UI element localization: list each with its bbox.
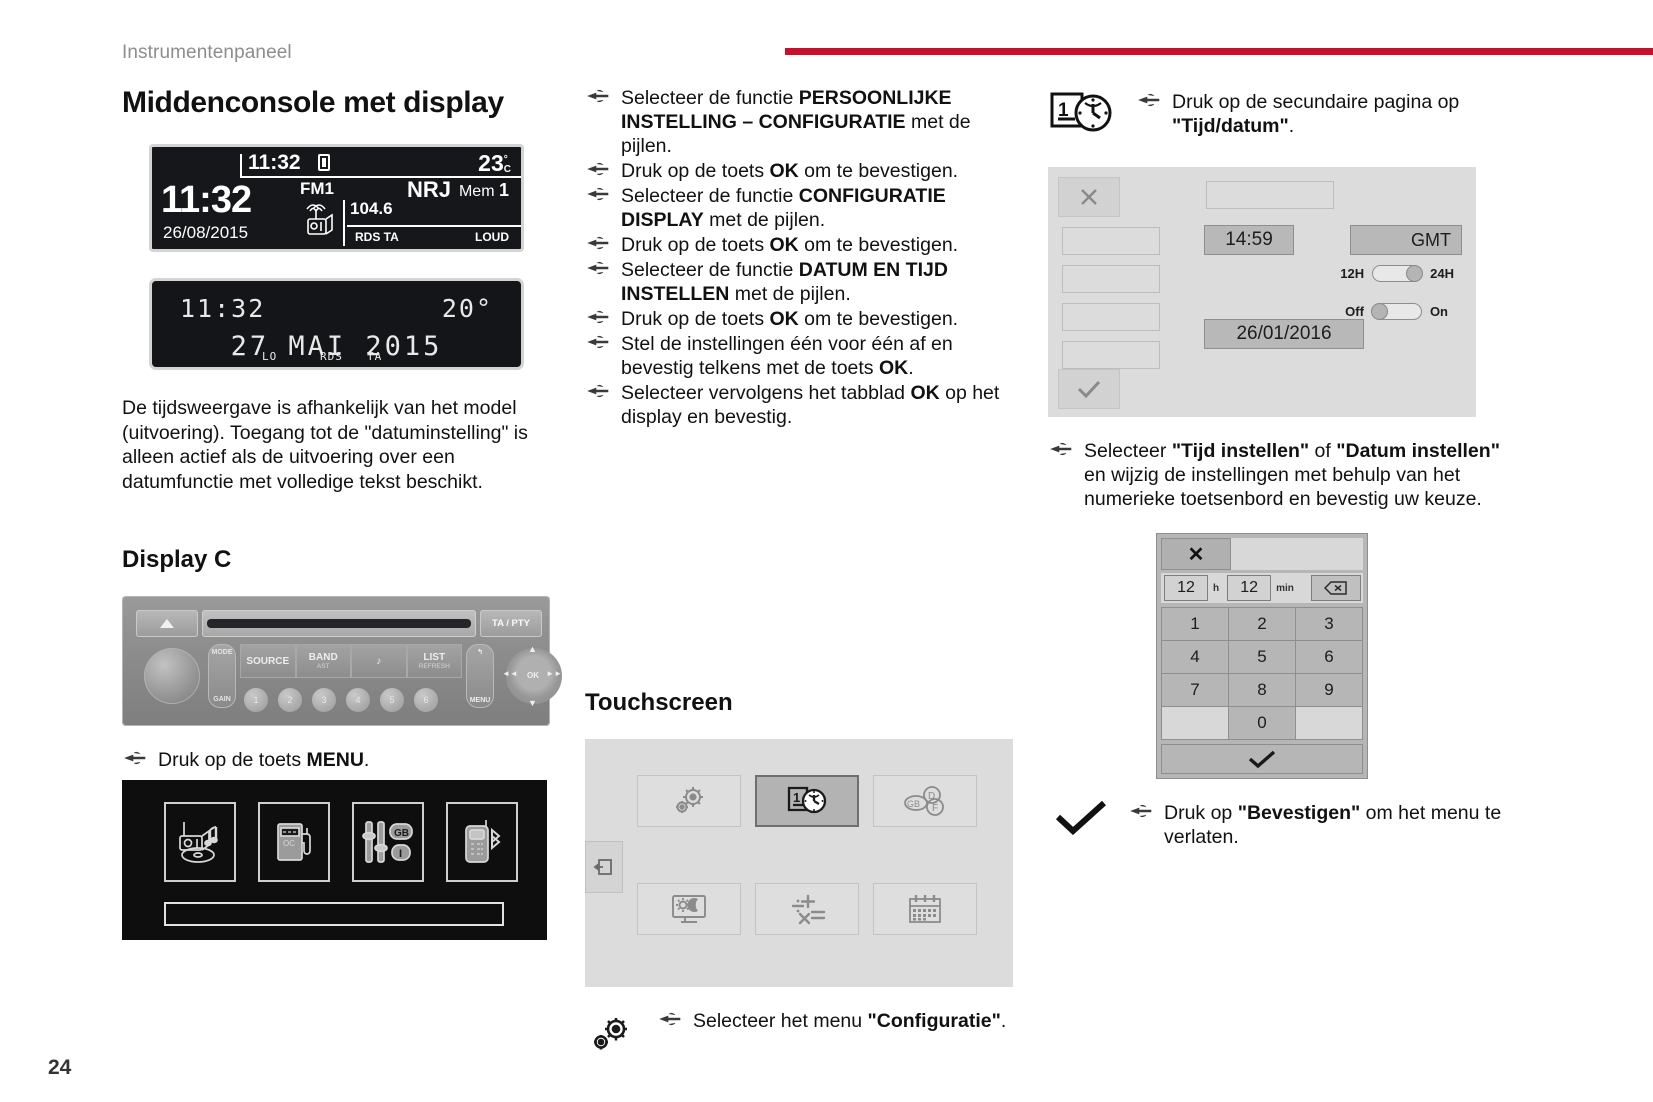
configuration-steps-list: Selecteer de functie PERSOONLIJKE INSTEL… [585, 86, 1015, 429]
display-a-status-clock: 11:32 [248, 151, 301, 175]
band-button[interactable]: BANDAST [296, 644, 352, 678]
svg-text:GB: GB [907, 799, 920, 809]
minute-unit-label: min [1271, 583, 1299, 594]
display-a-bottom-rule [347, 225, 521, 227]
display-b-clock: 11:32 [180, 294, 265, 323]
menu-label: MENU [470, 697, 491, 704]
hour-format-toggle[interactable] [1372, 265, 1422, 282]
chevron-up-icon[interactable]: ▲ [528, 644, 537, 654]
gain-label: GAIN [213, 696, 231, 703]
list-item: Selecteer het menu "Configuratie". [657, 1009, 1015, 1033]
toggle-off-label: Off [1345, 304, 1364, 319]
pointing-hand-icon [587, 310, 613, 328]
eject-icon[interactable] [136, 610, 198, 637]
back-arrow-icon[interactable] [585, 841, 623, 893]
mode-gain-button[interactable]: MODE GAIN [208, 644, 236, 708]
radio-cd-icon[interactable] [164, 802, 236, 882]
display-b-screen: 11:32 20° 27 MAI 2015 LO RDS TA [149, 278, 524, 370]
date-time-icon: 1 [1048, 86, 1126, 141]
keypad-top-spacer [1231, 538, 1363, 570]
keypad-key[interactable]: 0 [1229, 707, 1295, 739]
keypad-key[interactable]: 5 [1229, 641, 1295, 673]
pointing-hand-icon [587, 236, 613, 254]
chevron-down-icon[interactable]: ▼ [528, 698, 537, 708]
radio-menu-strip: OC GB I [122, 780, 547, 940]
middle-column: Selecteer de functie PERSOONLIJKE INSTEL… [585, 86, 1015, 1062]
onoff-toggle[interactable] [1372, 303, 1422, 320]
rewind-icon[interactable]: ◄◄ [502, 669, 518, 678]
list-item: Druk op de toets OK om te bevestigen. [585, 307, 1015, 331]
running-head: Instrumentenpaneel [122, 42, 292, 64]
display-b-lo: LO [262, 350, 277, 363]
display-a-screen: 11:32 23°C 11:32 26/08/2015 FM1 104.6 NR… [149, 144, 524, 252]
date-time-icon[interactable]: 1 [755, 775, 859, 827]
settings-gears-icon [585, 1009, 637, 1062]
backspace-icon[interactable] [1311, 575, 1361, 601]
radio-slot-row: TA / PTY [136, 608, 542, 638]
preset-button[interactable]: 6 [414, 688, 438, 712]
toggle-knob [1371, 303, 1388, 320]
pointing-hand-icon [1130, 804, 1156, 822]
display-note: De tijdsweergave is afhankelijk van het … [122, 396, 562, 494]
keypad-top-row: ✕ [1161, 538, 1363, 570]
time-date-step: 1 Druk op de secundaire pagina op "Tijd/… [1048, 86, 1508, 141]
pointing-hand-icon [659, 1012, 685, 1030]
pointing-hand-icon [587, 335, 613, 353]
ta-pty-button[interactable]: TA / PTY [480, 610, 542, 637]
confirm-step-list: Druk op "Bevestigen" om het menu te verl… [1128, 799, 1508, 850]
menu-instruction-after: . [364, 749, 369, 771]
ok-button[interactable]: OK [520, 664, 546, 686]
display-a-date: 26/08/2015 [163, 223, 248, 243]
right-column: 1 Druk op de secundaire pagina op "Tijd/… [1048, 86, 1508, 850]
list-item: Druk op de toets MENU. [122, 748, 562, 772]
display-a-temperature: 23°C [478, 150, 511, 177]
pointing-hand-icon [587, 384, 613, 402]
svg-text:D: D [928, 791, 935, 802]
list-item: Druk op de secundaire pagina op "Tijd/da… [1136, 90, 1508, 138]
menu-instruction-bold: MENU [307, 749, 364, 771]
display-b-temperature: 20° [442, 294, 493, 323]
settings-left-field[interactable] [1062, 303, 1160, 331]
calendar-icon[interactable] [873, 883, 977, 935]
car-radio-unit: TA / PTY MODE GAIN SOURCE BANDAST ♪ LIST… [122, 596, 550, 726]
list-button[interactable]: LISTREFRESH [407, 644, 463, 678]
touchscreen-title: Touchscreen [585, 689, 1015, 717]
time-date-step-list: Druk op de secundaire pagina op "Tijd/da… [1136, 86, 1508, 139]
display-a-station: NRJ [407, 177, 451, 203]
close-x-icon[interactable]: ✕ [1161, 538, 1231, 570]
svg-text:F: F [932, 803, 938, 814]
display-b-rds: RDS [320, 350, 343, 363]
pointing-hand-icon [587, 89, 613, 107]
hour-format-toggle-row: 12H 24H [1340, 265, 1454, 282]
menu-instruction-list: Druk op de toets MENU. [122, 748, 562, 772]
display-a-memory: Mem 1 [459, 180, 509, 201]
list-item: Selecteer de functie CONFIGURATIE DISPLA… [585, 184, 1015, 232]
keypad-key[interactable]: 6 [1296, 641, 1362, 673]
list-item: Druk op de toets OK om te bevestigen. [585, 233, 1015, 257]
touchscreen-tile-grid: 1 GB D F [637, 775, 985, 935]
forward-icon[interactable]: ►► [546, 669, 562, 678]
svg-text:OC: OC [283, 839, 295, 848]
keypad-confirm-button[interactable] [1161, 744, 1363, 774]
preset-button[interactable]: 3 [312, 688, 336, 712]
check-icon[interactable] [1058, 369, 1120, 409]
cd-slot [202, 610, 476, 637]
keypad-key-blank [1162, 707, 1228, 739]
toggle-on-label: On [1430, 304, 1448, 319]
back-arrow-icon: ↰ [477, 648, 483, 656]
preset-button[interactable]: 2 [278, 688, 302, 712]
pointing-hand-icon [587, 187, 613, 205]
music-note-button[interactable]: ♪ [351, 644, 407, 678]
numeric-keypad: ✕ 12 h 12 min 1 2 3 4 5 6 7 8 9 0 [1156, 533, 1368, 779]
keypad-key[interactable]: 2 [1229, 608, 1295, 640]
keypad-key[interactable]: 4 [1162, 641, 1228, 673]
header-accent-rule [785, 48, 1653, 55]
display-a-frequency: 104.6 [350, 199, 393, 219]
toggle-knob [1406, 265, 1423, 282]
menu-icon-row: OC GB I [164, 802, 518, 882]
pointing-hand-icon [1138, 93, 1164, 111]
svg-text:1: 1 [1058, 100, 1069, 121]
display-a-rds-ta: RDS TA [355, 230, 399, 244]
toggle-12h-label: 12H [1340, 266, 1364, 281]
fuel-pump-icon[interactable]: OC [258, 802, 330, 882]
display-c-title: Display C [122, 546, 562, 574]
source-button[interactable]: SOURCE [240, 644, 296, 678]
svg-text:I: I [399, 848, 402, 860]
close-x-icon[interactable] [1058, 177, 1120, 217]
temperature-value: 23 [478, 150, 504, 176]
radio-function-buttons: SOURCE BANDAST ♪ LISTREFRESH [240, 644, 462, 678]
display-brightness-icon[interactable] [637, 883, 741, 935]
time-value-button[interactable]: 14:59 [1204, 225, 1294, 255]
keypad-key[interactable]: 7 [1162, 674, 1228, 706]
preset-button[interactable]: 1 [244, 688, 268, 712]
list-item: Stel de instellingen één voor één af en … [585, 332, 1015, 380]
units-calculator-icon[interactable] [755, 883, 859, 935]
pointing-hand-icon [124, 751, 150, 769]
touchscreen-caption-list: Selecteer het menu "Configuratie". [657, 1009, 1015, 1033]
touchscreen-menu: 1 GB D F [585, 739, 1013, 987]
menu-strip-bar [164, 902, 504, 926]
confirm-step: Druk op "Bevestigen" om het menu te verl… [1048, 799, 1508, 850]
minute-input[interactable]: 12 [1227, 575, 1271, 601]
hour-input[interactable]: 12 [1164, 575, 1208, 601]
display-b-ta: TA [367, 350, 382, 363]
list-item: Selecteer vervolgens het tabblad OK op h… [585, 381, 1015, 429]
time-date-settings-screen: 14:59 GMT 12H 24H Off On 26/01/2016 [1048, 167, 1476, 417]
settings-left-field[interactable] [1062, 227, 1160, 255]
temperature-unit: °C [504, 155, 511, 175]
language-flags-icon[interactable]: GB D F [873, 775, 977, 827]
list-item: Druk op de toets OK om te bevestigen. [585, 159, 1015, 183]
radio-preset-buttons: 1 2 3 4 5 6 [244, 688, 462, 712]
hour-unit-label: h [1208, 583, 1224, 594]
toggle-24h-label: 24H [1430, 266, 1454, 281]
onoff-toggle-row: Off On [1345, 303, 1448, 320]
touchscreen-caption: Selecteer het menu "Configuratie". [585, 1009, 1015, 1062]
svg-text:GB: GB [394, 828, 409, 839]
settings-title-field [1206, 181, 1334, 209]
date-value-button[interactable]: 26/01/2016 [1204, 319, 1364, 349]
pointing-hand-icon [587, 162, 613, 180]
menu-instruction-before: Druk op de toets [158, 749, 307, 771]
timezone-button[interactable]: GMT [1350, 225, 1462, 255]
display-a-clock: 11:32 [161, 179, 251, 222]
navigation-pad[interactable]: ▲ ▼ ◄◄ ►► OK [500, 642, 564, 710]
left-column: Middenconsole met display 11:32 23°C 11:… [122, 86, 562, 940]
settings-left-field[interactable] [1062, 341, 1160, 369]
volume-knob[interactable] [144, 648, 200, 704]
display-a-loud: LOUD [475, 230, 509, 244]
list-item: Druk op "Bevestigen" om het menu te verl… [1128, 801, 1508, 849]
sim-card-icon [318, 154, 330, 171]
page-number: 24 [48, 1056, 71, 1080]
keypad-digit-grid: 1 2 3 4 5 6 7 8 9 0 [1161, 607, 1363, 740]
preset-button[interactable]: 5 [380, 688, 404, 712]
preset-button[interactable]: 4 [346, 688, 370, 712]
set-time-step-list: Selecteer "Tijd instellen" of "Datum ins… [1048, 439, 1508, 511]
radio-waves-icon [302, 199, 344, 239]
back-menu-button[interactable]: ↰ MENU [466, 644, 494, 708]
equalizer-language-icon[interactable]: GB I [352, 802, 424, 882]
keypad-key[interactable]: 1 [1162, 608, 1228, 640]
pointing-hand-icon [1050, 442, 1076, 460]
settings-left-field[interactable] [1062, 265, 1160, 293]
keypad-fields-row: 12 h 12 min [1161, 573, 1363, 603]
mobile-phone-bluetooth-icon[interactable] [446, 802, 518, 882]
svg-text:1: 1 [793, 790, 800, 805]
display-a-band: FM1 [300, 179, 334, 199]
mode-label: MODE [212, 649, 233, 656]
pointing-hand-icon [587, 261, 613, 279]
list-item: Selecteer de functie PERSOONLIJKE INSTEL… [585, 86, 1015, 158]
keypad-key-blank [1296, 707, 1362, 739]
keypad-key[interactable]: 3 [1296, 608, 1362, 640]
list-item: Selecteer "Tijd instellen" of "Datum ins… [1048, 439, 1508, 511]
list-item: Selecteer de functie DATUM EN TIJD INSTE… [585, 258, 1015, 306]
settings-gears-icon[interactable] [637, 775, 741, 827]
keypad-key[interactable]: 8 [1229, 674, 1295, 706]
keypad-key[interactable]: 9 [1296, 674, 1362, 706]
page-title: Middenconsole met display [122, 86, 562, 120]
check-icon [1048, 799, 1114, 840]
